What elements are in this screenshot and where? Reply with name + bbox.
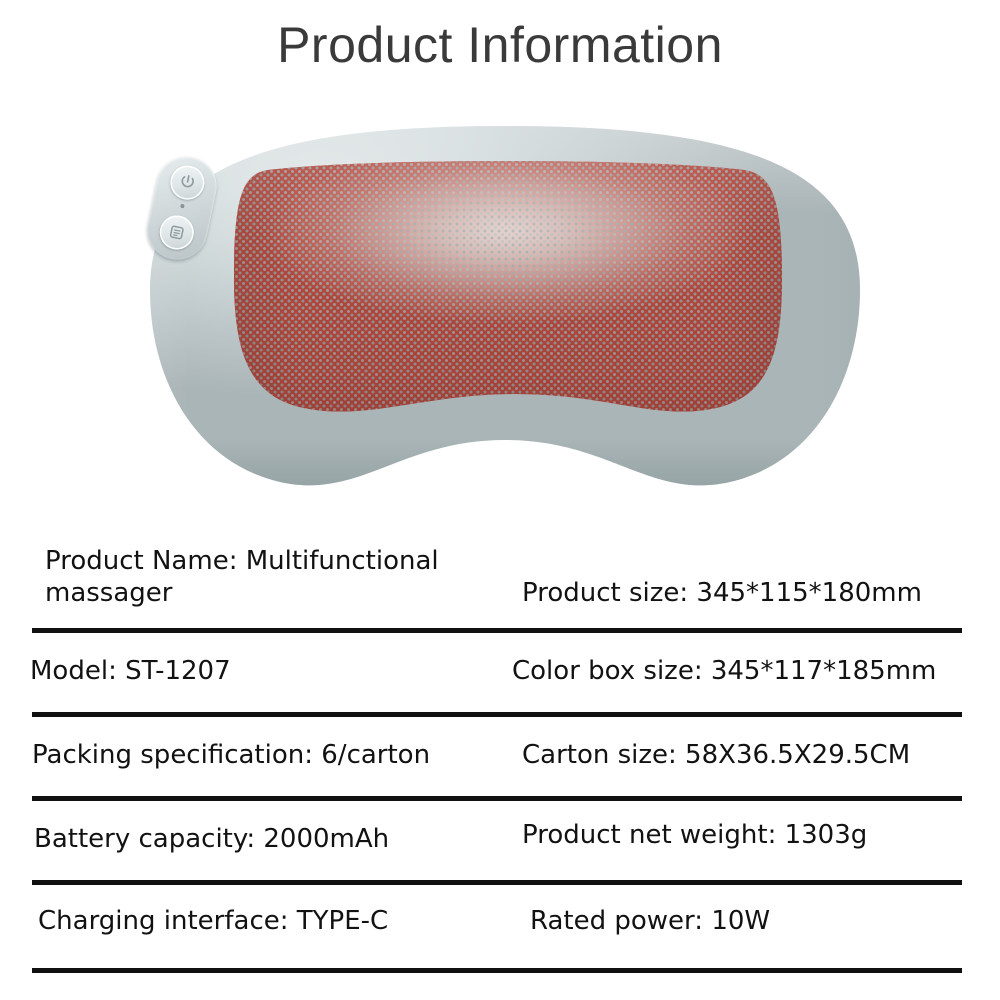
spec-carton-size: Carton size: 58X36.5X29.5CM (522, 740, 910, 772)
table-row: Charging interface: TYPE-C Rated power: … (0, 880, 1000, 964)
spec-model: Model: ST-1207 (30, 656, 231, 688)
status-led-indicator (180, 204, 185, 209)
mode-button[interactable] (157, 212, 197, 252)
spec-product-net-weight: Product net weight: 1303g (522, 820, 867, 852)
mesh-shading-overlay (216, 158, 796, 426)
spec-battery-capacity: Battery capacity: 2000mAh (34, 824, 389, 856)
spec-charging-interface: Charging interface: TYPE-C (38, 906, 388, 938)
mesh-panel (216, 158, 796, 426)
power-button[interactable] (167, 162, 207, 202)
product-image-stage (0, 100, 1000, 520)
power-icon (176, 171, 200, 195)
spec-table: Product Name: Multifunctional massager P… (0, 528, 1000, 964)
spec-rated-power: Rated power: 10W (530, 906, 770, 938)
mode-icon (165, 221, 189, 245)
spec-product-name: Product Name: Multifunctional massager (45, 546, 505, 609)
table-row: Battery capacity: 2000mAh Product net we… (0, 796, 1000, 880)
spec-product-size: Product size: 345*115*180mm (522, 578, 922, 610)
table-row: Model: ST-1207 Color box size: 345*117*1… (0, 628, 1000, 712)
massage-pillow-product-image (90, 110, 920, 510)
spec-packing-specification: Packing specification: 6/carton (32, 740, 430, 772)
table-row: Packing specification: 6/carton Carton s… (0, 712, 1000, 796)
row-divider (32, 968, 962, 973)
table-row: Product Name: Multifunctional massager P… (0, 528, 1000, 628)
spec-color-box-size: Color box size: 345*117*185mm (512, 656, 936, 688)
page-title: Product Information (0, 16, 1000, 74)
